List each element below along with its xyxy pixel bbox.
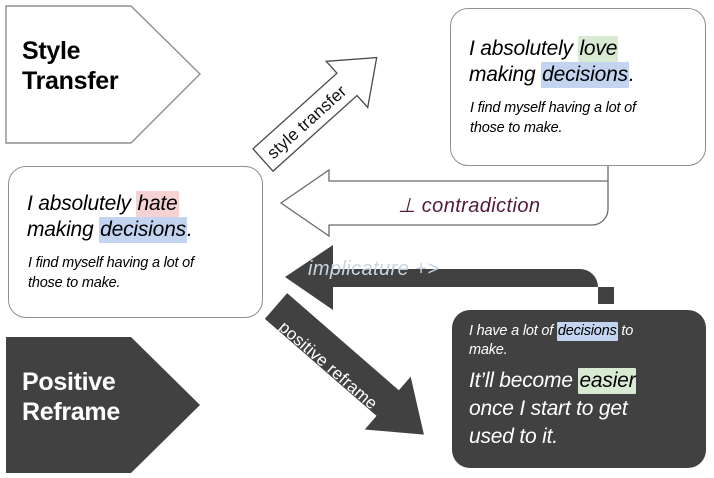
original-small-line-1: I find myself having a lot of — [28, 254, 194, 272]
original-utterance-box: I absolutely hate making decisions. I fi… — [8, 166, 263, 318]
reframed-small-line-2: make. — [469, 341, 508, 359]
highlight-decisions: decisions — [541, 62, 629, 88]
text-fragment: making — [469, 63, 541, 86]
text-fragment: . — [187, 218, 193, 241]
original-big-line-2: making decisions. — [27, 217, 193, 242]
original-small-line-2: those to make. — [28, 274, 120, 292]
text-fragment: making — [27, 218, 99, 241]
positive-reframe-banner-label: Positive Reframe — [22, 367, 202, 427]
implicature-arrow-label: implicature +> — [308, 258, 439, 281]
style-transferred-big-line-2: making decisions. — [469, 62, 635, 87]
text-fragment: I have a lot of — [469, 323, 557, 339]
highlight-decisions: decisions — [557, 322, 618, 341]
style-transferred-big-line-1: I absolutely love — [469, 36, 618, 61]
diagram-canvas: Style Transfer Positive Reframe I absolu… — [0, 0, 714, 478]
highlight-hate: hate — [136, 191, 178, 217]
style-transferred-utterance-box: I absolutely love making decisions. I fi… — [450, 8, 706, 166]
text-fragment: I absolutely — [27, 192, 136, 215]
text-fragment: It’ll become — [469, 369, 578, 392]
style-transfer-banner-label: Style Transfer — [22, 36, 182, 96]
reframed-big-line-3: used to it. — [469, 424, 558, 449]
original-big-line-1: I absolutely hate — [27, 191, 179, 216]
text-fragment: to — [618, 323, 634, 339]
text-fragment: . — [629, 63, 635, 86]
highlight-decisions: decisions — [99, 217, 187, 243]
style-transferred-small-line-2: those to make. — [470, 119, 562, 137]
text-fragment: I absolutely — [469, 37, 578, 60]
highlight-easier: easier — [578, 368, 636, 394]
highlight-love: love — [578, 36, 618, 62]
reframed-big-line-1: It’ll become easier — [469, 368, 636, 393]
positive-reframe-arrow-shape — [253, 280, 447, 461]
contradiction-arrow-label: ⊥ contradiction — [398, 193, 540, 218]
reframed-big-line-2: once I start to get — [469, 396, 627, 421]
reframed-small-line-1: I have a lot of decisions to — [469, 322, 633, 340]
positive-reframed-utterance-box: I have a lot of decisions to make. It’ll… — [452, 310, 706, 468]
style-transferred-small-line-1: I find myself having a lot of — [470, 99, 636, 117]
